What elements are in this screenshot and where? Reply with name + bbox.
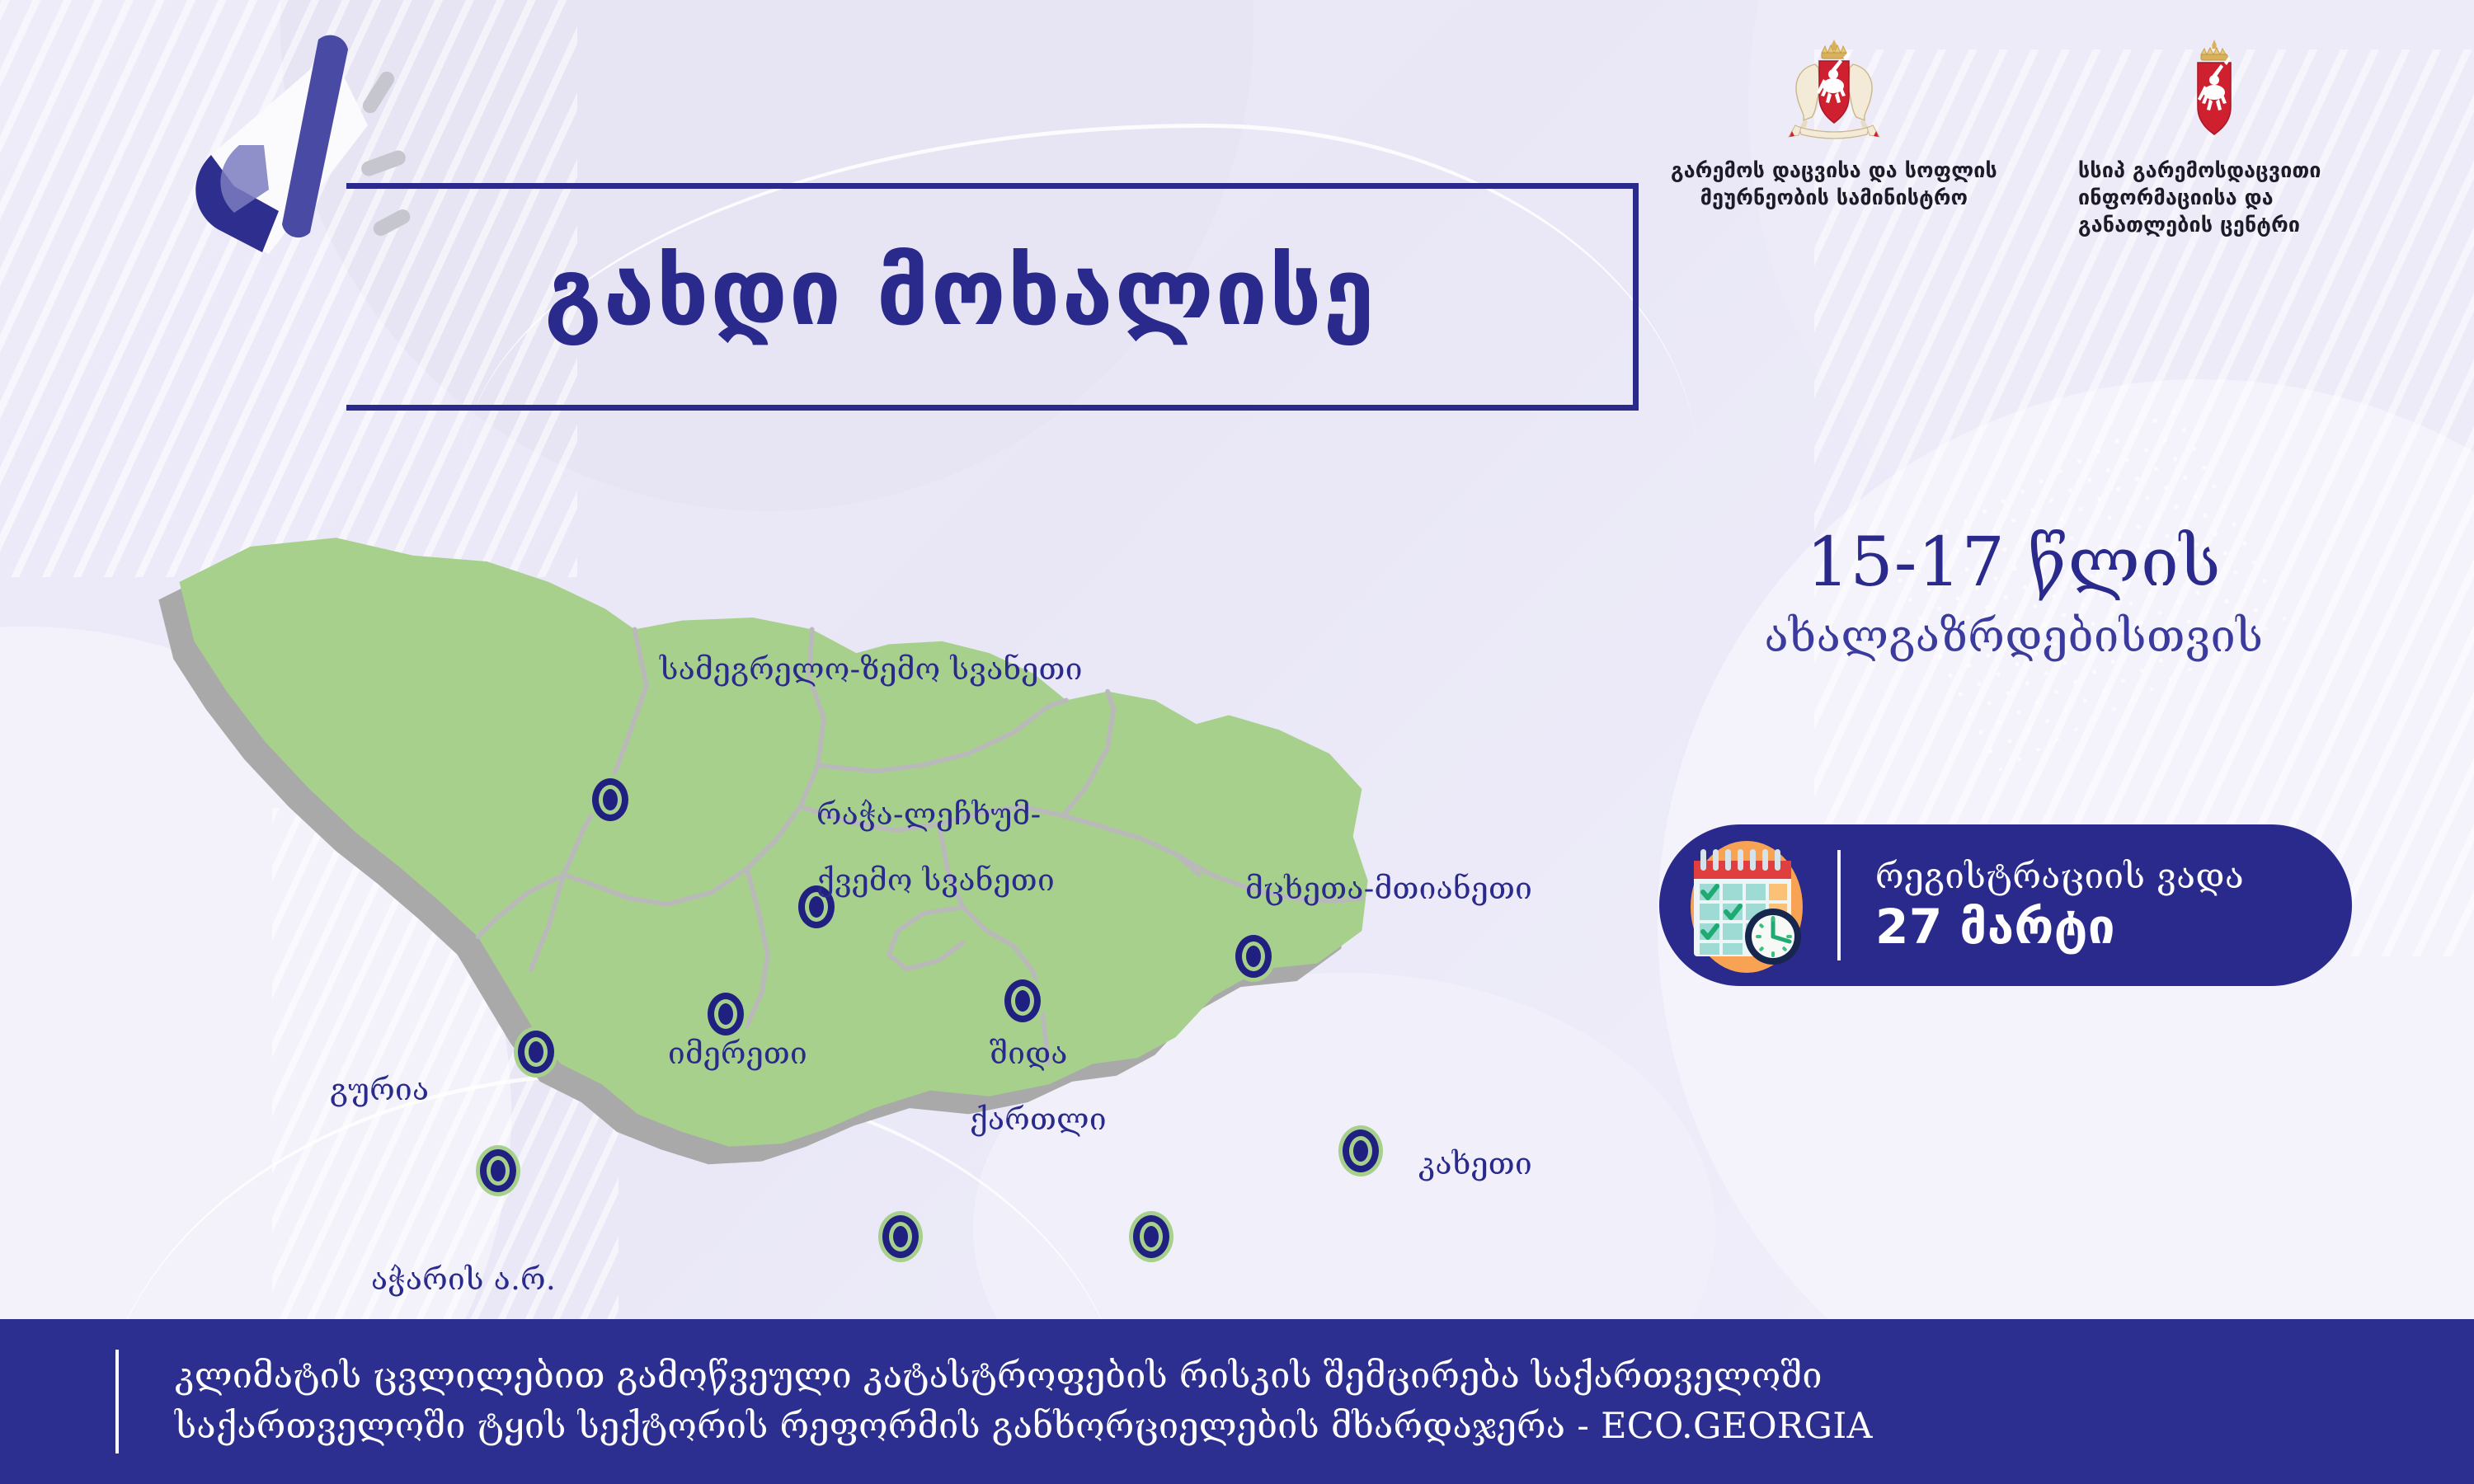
eiec-logo-caption: სსიპ გარემოსდაცვითი ინფორმაციისა და განა… xyxy=(2078,157,2350,238)
age-audience-line: ახალგაზრდებისთვის xyxy=(1676,610,2352,662)
banner-text-group: კლიმატის ცვლილებით გამოწვეული კატასტროფე… xyxy=(175,1351,1873,1452)
georgia-regions-map: სამეგრელო-ზემო სვანეთირაჭა-ლეჩხუმ-ქვემო … xyxy=(49,511,1740,1294)
registration-deadline-badge: რეგისტრაციის ვადა 27 მარტი xyxy=(1659,824,2352,986)
georgia-coat-of-arms-icon xyxy=(1780,35,1888,147)
map-region-label: სამეგრელო-ზემო სვანეთი xyxy=(660,651,1083,688)
deadline-date: 27 მარტი xyxy=(1875,901,2244,954)
pill-divider xyxy=(1837,850,1841,960)
map-marker[interactable] xyxy=(882,1215,919,1258)
map-marker[interactable] xyxy=(1004,979,1041,1022)
poster-root: გარემოს დაცვისა და სოფლის მეურნეობის სამ… xyxy=(0,0,2474,1484)
map-marker-core xyxy=(1011,986,1034,1016)
map-marker[interactable] xyxy=(518,1031,554,1073)
map-region-label: იმერეთი xyxy=(668,1036,807,1072)
bottom-banner: კლიმატის ცვლილებით გამოწვეული კატასტროფე… xyxy=(0,1319,2474,1484)
eiec-emblem-icon xyxy=(2183,35,2246,147)
map-marker[interactable] xyxy=(708,993,744,1036)
ministry-logo-block: გარემოს დაცვისა და სოფლის მეურნეობის სამ… xyxy=(1669,35,1999,211)
ministry-caption-line-1: გარემოს დაცვისა და სოფლის xyxy=(1671,157,1997,184)
age-range-block: 15-17 წლის ახალგაზრდებისთვის xyxy=(1676,528,2352,662)
eiec-caption-line-2: ინფორმაციისა და xyxy=(2078,184,2350,211)
map-marker-core xyxy=(1242,942,1265,971)
map-overlay: სამეგრელო-ზემო სვანეთირაჭა-ლეჩხუმ-ქვემო … xyxy=(49,511,1740,1294)
map-region-label: გურია xyxy=(330,1072,429,1108)
age-range-line: 15-17 წლის xyxy=(1676,528,2352,599)
page-title: გახდი მოხალისე xyxy=(544,239,1376,346)
map-region-label: მცხეთა-მთიანეთი xyxy=(1245,871,1532,907)
map-marker[interactable] xyxy=(1235,935,1272,978)
banner-accent-rule xyxy=(115,1350,119,1453)
map-marker-core xyxy=(1349,1136,1372,1166)
eiec-logo-block: სსიპ გარემოსდაცვითი ინფორმაციისა და განა… xyxy=(2078,35,2350,238)
deadline-label: რეგისტრაციის ვადა xyxy=(1875,857,2244,896)
ministry-logo-caption: გარემოს დაცვისა და სოფლის მეურნეობის სამ… xyxy=(1671,157,1997,211)
map-marker-core xyxy=(599,785,622,815)
banner-line-1: კლიმატის ცვლილებით გამოწვეული კატასტროფე… xyxy=(175,1351,1873,1402)
map-marker[interactable] xyxy=(480,1149,516,1192)
map-region-label: ქვემო სვანეთი xyxy=(816,862,1055,899)
map-region-label: ქართლი xyxy=(970,1101,1107,1138)
deadline-text-group: რეგისტრაციის ვადა 27 მარტი xyxy=(1841,857,2244,954)
ministry-caption-line-2: მეურნეობის სამინისტრო xyxy=(1671,184,1997,211)
map-marker-core xyxy=(1140,1222,1163,1252)
map-marker-core xyxy=(487,1156,510,1186)
banner-line-2: საქართველოში ტყის სექტორის რეფორმის განხ… xyxy=(175,1402,1873,1452)
map-marker[interactable] xyxy=(592,778,628,821)
eiec-caption-line-1: სსიპ გარემოსდაცვითი xyxy=(2078,157,2350,184)
map-region-label: აჭარის ა.რ. xyxy=(371,1261,556,1298)
megaphone-icon xyxy=(124,16,511,264)
map-region-label: შიდა xyxy=(990,1036,1068,1072)
map-region-label: რაჭა-ლეჩხუმ- xyxy=(816,796,1041,833)
map-marker-core xyxy=(889,1222,912,1252)
eiec-caption-line-3: განათლების ცენტრი xyxy=(2078,211,2350,238)
logo-row: გარემოს დაცვისა და სოფლის მეურნეობის სამ… xyxy=(1669,35,2350,238)
map-marker-core xyxy=(714,999,737,1029)
map-marker-core xyxy=(524,1037,548,1067)
map-marker[interactable] xyxy=(1133,1215,1169,1258)
map-marker[interactable] xyxy=(1343,1129,1379,1172)
map-region-label: კახეთი xyxy=(1418,1146,1532,1182)
calendar-clock-icon xyxy=(1659,831,1837,979)
